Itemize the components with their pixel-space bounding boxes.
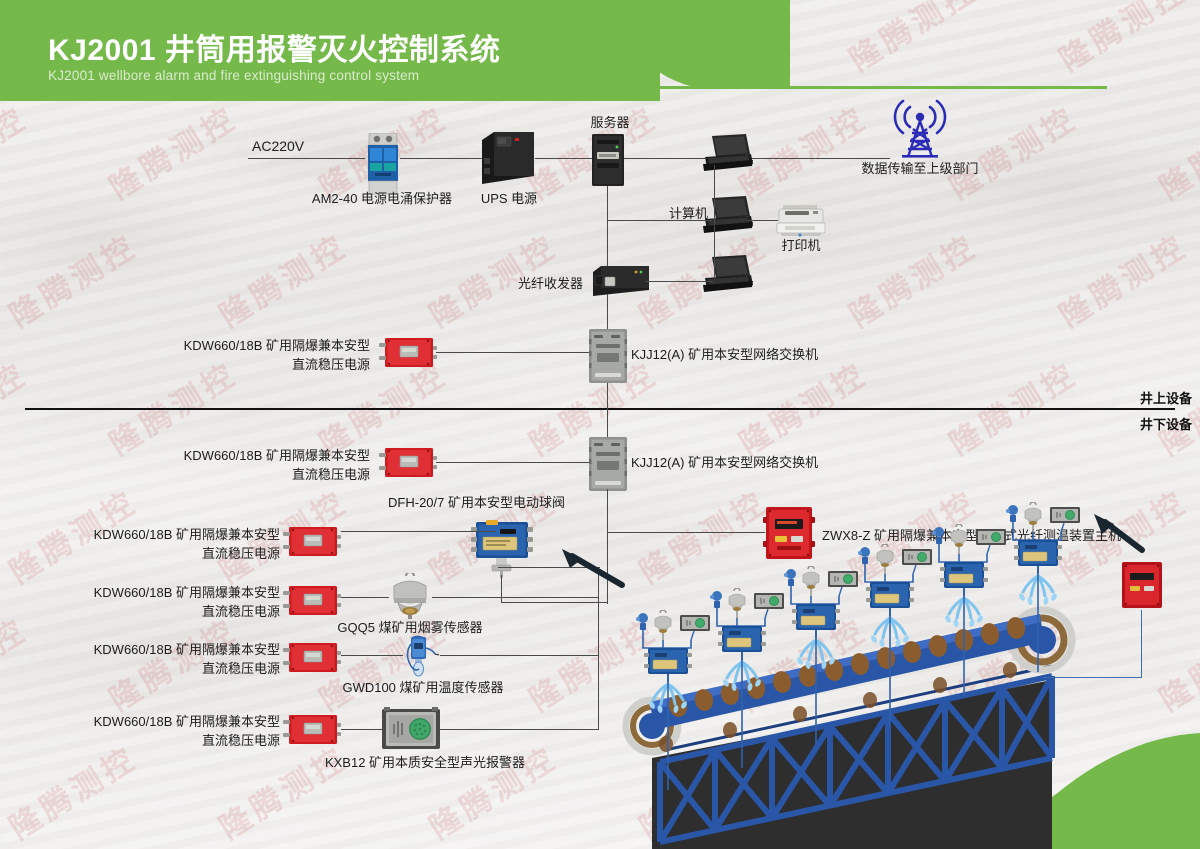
station-alarm-icon [754, 593, 784, 618]
station-smoke-icon [655, 610, 671, 640]
laptop-icon-2 [703, 196, 753, 241]
station-sensor-icon [710, 591, 722, 618]
wire-server-to-laptop1 [622, 158, 705, 159]
wire-psu-main-to-switch [436, 462, 589, 463]
red-explosion-proof-box-icon-row-0 [283, 526, 341, 562]
station-alarm-icon [1050, 507, 1080, 532]
wire-switch-down-1 [607, 489, 608, 533]
spray-station-4 [856, 544, 940, 803]
row-psu-label-1-line1: KDW660/18B 矿用隔爆兼本安型 [0, 583, 280, 602]
page-subtitle: KJ2001 wellbore alarm and fire extinguis… [48, 68, 419, 83]
radio-tower-icon [888, 97, 952, 164]
station-alarm-icon [902, 549, 932, 574]
psu-main-label-line2: 直流稳压电源 [80, 465, 370, 484]
wire-row-1a [341, 597, 389, 598]
station-control-box-icon [940, 562, 988, 588]
row-psu-label-3-line2: 直流稳压电源 [0, 731, 280, 750]
wire-psu-surface-to-switch [436, 352, 589, 353]
red-explosion-proof-box-icon-row-3 [283, 714, 341, 750]
station-smoke-icon [1025, 502, 1041, 532]
printer-label: 打印机 [760, 236, 842, 255]
surge-protector-label: AM2-40 电源电涌保护器 [303, 189, 461, 208]
wire-ballvalve-bus [501, 602, 608, 603]
station-smoke-icon [951, 524, 967, 554]
blue-electric-ball-valve-icon [470, 518, 534, 583]
ups-label: UPS 电源 [452, 189, 566, 208]
server-tower-icon [592, 134, 624, 191]
ac-input-label: AC220V [252, 137, 304, 156]
wire-fiber-to-laptop3 [645, 281, 713, 282]
antenna-label: 数据传输至上级部门 [845, 159, 995, 178]
row-psu-label-2-line1: KDW660/18B 矿用隔爆兼本安型 [0, 640, 280, 659]
ground-level-divider [25, 408, 1175, 410]
red-explosion-proof-box-icon-row-2 [283, 642, 341, 678]
page-title: KJ2001 井筒用报警灭火控制系统 [48, 25, 500, 69]
wire-row-3a [341, 729, 385, 730]
psu-label-surface-line2: 直流稳压电源 [80, 355, 370, 374]
wire-ballvalve-to-switchline [501, 575, 502, 603]
wire-laptop-stack [714, 165, 715, 277]
row-psu-label-0-line1: KDW660/18B 矿用隔爆兼本安型 [0, 525, 280, 544]
wire-fiber-to-switch [607, 294, 608, 330]
station-alarm-icon [828, 571, 858, 596]
wire-row-2b [440, 655, 598, 656]
psu-main-label-line1: KDW660/18B 矿用隔爆兼本安型 [80, 446, 370, 465]
red-explosion-proof-box-icon-main [379, 447, 437, 483]
ball-valve-label: DFH-20/7 矿用本安型电动球阀 [265, 493, 565, 512]
spray-station-3 [782, 566, 866, 827]
row-psu-label-3-line1: KDW660/18B 矿用隔爆兼本安型 [0, 712, 280, 731]
switch-label-underground: KJJ12(A) 矿用本安型网络交换机 [631, 453, 818, 472]
wire-laptop2-to-printer [748, 220, 778, 221]
switch-label-surface: KJJ12(A) 矿用本安型网络交换机 [631, 345, 818, 364]
wire-row-1b [432, 597, 598, 598]
wire-server-bus-to-laptop2 [607, 220, 712, 221]
station-sensor-icon [636, 613, 648, 640]
row-psu-label-2-line2: 直流稳压电源 [0, 659, 280, 678]
wire-row-3b [440, 729, 598, 730]
diagram-canvas: 隆腾测控隆腾测控隆腾测控隆腾测控隆腾测控隆腾测控隆腾测控隆腾测控隆腾测控隆腾测控… [0, 0, 1200, 849]
wire-field-box-drop [1141, 610, 1142, 678]
station-smoke-icon [877, 544, 893, 574]
spray-station-1 [634, 610, 718, 849]
fiber-converter-label: 光纤收发器 [488, 274, 583, 293]
station-sensor-icon [858, 547, 870, 574]
station-smoke-icon [729, 588, 745, 618]
row-psu-label-1-line2: 直流稳压电源 [0, 602, 280, 621]
wire-field-box-to-conveyor [1043, 677, 1142, 678]
laptop-icon-1 [703, 134, 753, 179]
spray-station-2 [708, 588, 792, 849]
red-explosion-proof-box-icon-row-1 [283, 585, 341, 621]
alarm-label: KXB12 矿用本质安全型声光报警器 [310, 753, 540, 772]
station-alarm-icon [680, 615, 710, 640]
row-psu-label-0-line2: 直流稳压电源 [0, 544, 280, 563]
red-field-box-icon [1120, 560, 1164, 615]
header-accent-line [637, 86, 1107, 89]
divider-label-below: 井下设备 [1140, 414, 1192, 433]
network-switch-icon-surface [589, 329, 627, 388]
network-switch-icon-underground [589, 437, 627, 496]
divider-label-above: 井上设备 [1140, 388, 1192, 407]
laptop-icon-3 [703, 255, 753, 300]
station-sensor-icon [1006, 505, 1018, 532]
temperature-sensor-label: GWD100 煤矿用温度传感器 [337, 678, 509, 697]
psu-label-surface-line1: KDW660/18B 矿用隔爆兼本安型 [80, 336, 370, 355]
server-label: 服务器 [560, 113, 660, 132]
station-control-box-icon [718, 626, 766, 652]
station-sensor-icon [932, 527, 944, 554]
station-control-box-icon [792, 604, 840, 630]
station-smoke-icon [803, 566, 819, 596]
station-control-box-icon [866, 582, 914, 608]
station-control-box-icon [644, 648, 692, 674]
wire-ac-to-spd [248, 158, 365, 159]
spray-station-6 [1004, 502, 1088, 755]
wire-row-0 [341, 531, 496, 532]
media-converter-icon [593, 264, 649, 303]
station-control-box-icon [1014, 540, 1062, 566]
audible-visual-alarm-icon [382, 707, 440, 756]
wire-spd-to-ups [400, 158, 482, 159]
red-explosion-proof-box-icon-surface [379, 337, 437, 373]
wire-ups-to-server [535, 158, 592, 159]
wire-row-2a [341, 655, 403, 656]
ups-icon [482, 132, 536, 189]
station-alarm-icon [976, 529, 1006, 554]
station-sensor-icon [784, 569, 796, 596]
spray-station-5 [930, 524, 1014, 779]
